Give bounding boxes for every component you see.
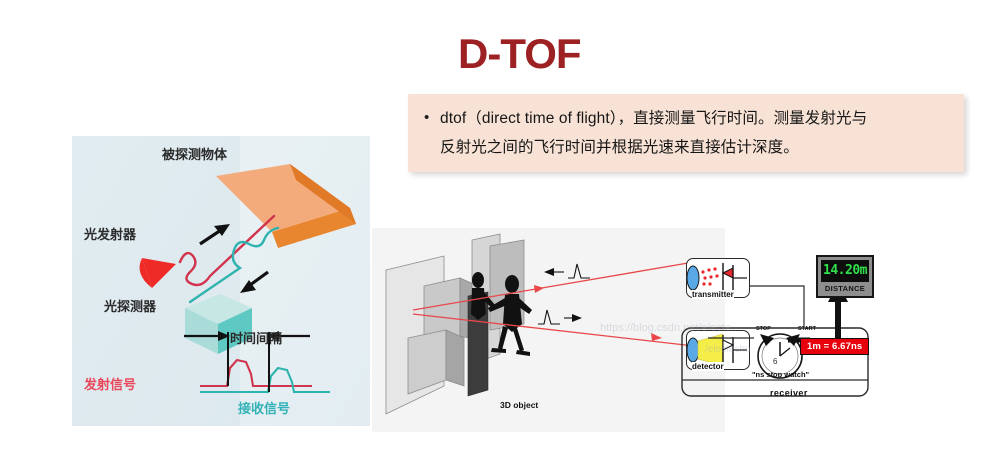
- bullet-row: • dtof（direct time of flight），直接测量飞行时间。测…: [424, 104, 950, 133]
- start-wire: [750, 286, 804, 326]
- watermark-text-1: https://blog.csdn.net/electe...: [600, 322, 740, 334]
- label-rx-signal: 接收信号: [238, 398, 290, 417]
- bullet-row: 反射光之间的飞行时间并根据光速来直接估计深度。: [424, 133, 950, 162]
- receiver-caption: receiver: [770, 388, 808, 398]
- left-illustration-dtof-principle: 被探测物体 光发射器 光探测器 时间间隔 发射信号 接收信号: [72, 136, 370, 426]
- slide-canvas: D-TOF • dtof（direct time of flight），直接测量…: [0, 0, 1000, 474]
- svg-text:6: 6: [773, 357, 778, 366]
- stopwatch-caption: "ns stop watch": [752, 370, 809, 379]
- page-title: D-TOF: [458, 33, 581, 75]
- received-light-wave: [190, 228, 278, 302]
- bullet-text-panel: • dtof（direct time of flight），直接测量飞行时间。测…: [408, 94, 964, 172]
- bullet-line-2: 反射光之间的飞行时间并根据光速来直接估计深度。: [440, 133, 799, 162]
- target-object-shape: [216, 164, 356, 248]
- stopwatch-start-label: START: [798, 326, 817, 332]
- label-target-object: 被探测物体: [162, 144, 227, 163]
- beam-arrow-out: [651, 333, 662, 341]
- distance-value: 14.20m: [821, 260, 869, 282]
- label-light-detector: 光探测器: [104, 296, 156, 315]
- watermark-text-2: /electecho: [705, 344, 751, 355]
- speed-conversion-badge: 1m = 6.67ns: [800, 338, 869, 355]
- distance-caption: DISTANCE: [821, 284, 869, 293]
- label-tx-signal: 发射信号: [84, 374, 136, 393]
- label-time-interval: 时间间隔: [230, 328, 282, 347]
- beam-arrow-in: [534, 285, 544, 293]
- label-light-emitter: 光发射器: [84, 224, 136, 243]
- transmitter-pulse-glyph: [548, 264, 590, 278]
- stopwatch-stop-label: STOP: [756, 326, 771, 332]
- label-3d-object: 3D object: [500, 400, 538, 410]
- distance-display-panel: 14.20m DISTANCE: [816, 255, 874, 298]
- bullet-line-1: dtof（direct time of flight），直接测量飞行时间。测量发…: [440, 104, 867, 133]
- rx-signal-waveform: [200, 368, 330, 392]
- tx-signal-waveform: [200, 360, 312, 386]
- bullet-marker-icon: •: [424, 104, 440, 132]
